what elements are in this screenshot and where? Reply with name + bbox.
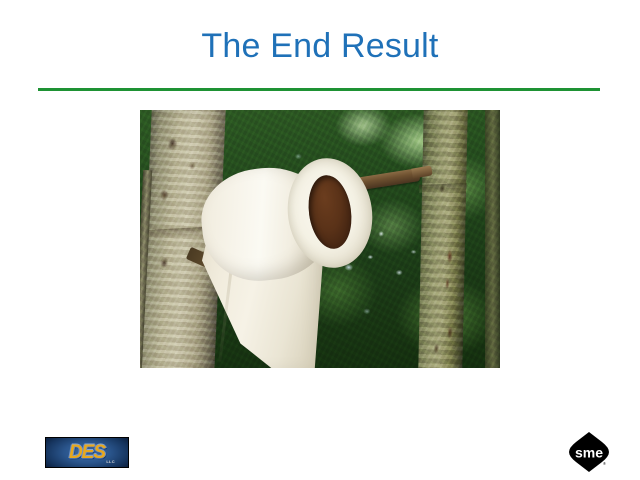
title-divider-rule [38,88,600,91]
content-photo [140,110,500,368]
slide-canvas: The End Result DES LLC sme ® [0,0,640,480]
des-logo: DES LLC [45,437,129,468]
des-logo-subtext: LLC [106,459,115,464]
sme-logo-wordmark: sme [575,445,603,461]
sme-logo: sme ® [568,431,610,473]
des-logo-wordmark: DES [46,438,128,467]
sme-logo-tm-mark: ® [603,461,606,466]
page-title: The End Result [40,26,600,66]
